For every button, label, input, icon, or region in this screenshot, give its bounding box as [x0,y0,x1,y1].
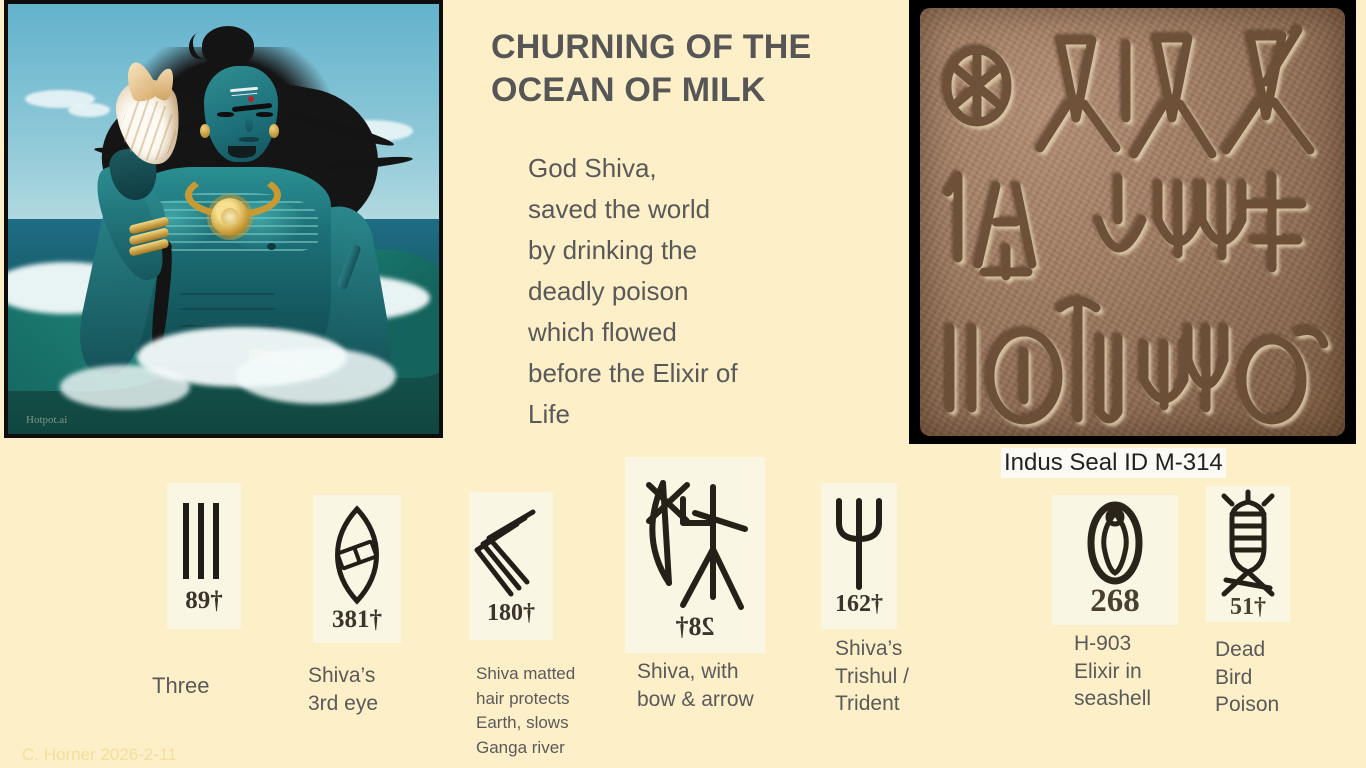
sign-number-archer: 28† [676,612,715,641]
glyph-card-matted-hair[interactable]: 180† [469,492,553,640]
seashell-oval-icon: 268 [1052,495,1178,625]
glyph-card-dead-bird[interactable]: 51† [1206,486,1290,622]
glyph-label-seashell: H-903 Elixir in seashell [1074,630,1194,713]
dead-bird-icon: 51† [1206,486,1290,622]
chest-detail [267,243,276,250]
page-title: CHURNING OF THE OCEAN OF MILK [491,26,891,111]
sign-number-trident: 162† [835,591,883,617]
nose [245,116,253,132]
glyph-card-archer[interactable]: 28† [625,457,765,653]
sign-number-seashell: 268 [1090,583,1140,619]
slide-canvas: Hotpot.ai CHURNING OF THE OCEAN OF MILK … [0,0,1366,768]
topknot [202,26,254,66]
three-vertical-strokes-icon: 89† [167,483,241,629]
image-watermark: Hotpot.ai [26,414,67,426]
glyph-card-three[interactable]: 89† [167,483,241,629]
glyph-label-dead-bird: Dead Bird Poison [1215,636,1325,719]
eye-almond-icon: 381† [313,495,401,643]
seal-caption: Indus Seal ID M-314 [1001,448,1226,478]
beard [228,146,256,158]
indus-seal-image[interactable] [909,0,1356,444]
earring-icon [269,124,279,138]
glyph-label-matted-hair: Shiva matted hair protects Earth, slows … [476,662,618,761]
glyph-label-third-eye: Shiva’s 3rd eye [308,662,438,717]
sign-number-third-eye: 381† [332,606,382,633]
glyph-label-three: Three [152,673,282,699]
footer-credit: C. Horner 2026-2-11 [22,745,177,765]
glyph-label-archer: Shiva, with bow & arrow [637,658,797,713]
sign-number-three: 89† [185,587,223,614]
nested-chevrons-icon: 180† [469,492,553,640]
body-paragraph: God Shiva, saved the world by drinking t… [528,148,828,436]
glyph-card-trident[interactable]: 162† [821,483,897,629]
shiva-ocean-image[interactable]: Hotpot.ai [4,0,443,438]
earring-icon [200,124,210,138]
glyph-card-third-eye[interactable]: 381† [313,495,401,643]
seal-inscription [920,8,1345,436]
sign-number-matted-hair: 180† [487,600,535,626]
trident-icon: 162† [821,483,897,629]
pendant-icon [211,198,249,236]
foam-shape [236,348,396,404]
glyph-label-trident: Shiva’s Trishul / Trident [835,635,950,718]
sign-number-dead-bird: 51† [1230,594,1266,620]
glyph-card-seashell[interactable]: 268 [1052,495,1178,625]
hero-scene [8,4,439,434]
seal-tablet [920,8,1345,436]
mouth [239,137,259,142]
foam-shape [60,365,190,409]
archer-with-bow-icon: 28† [625,457,765,653]
